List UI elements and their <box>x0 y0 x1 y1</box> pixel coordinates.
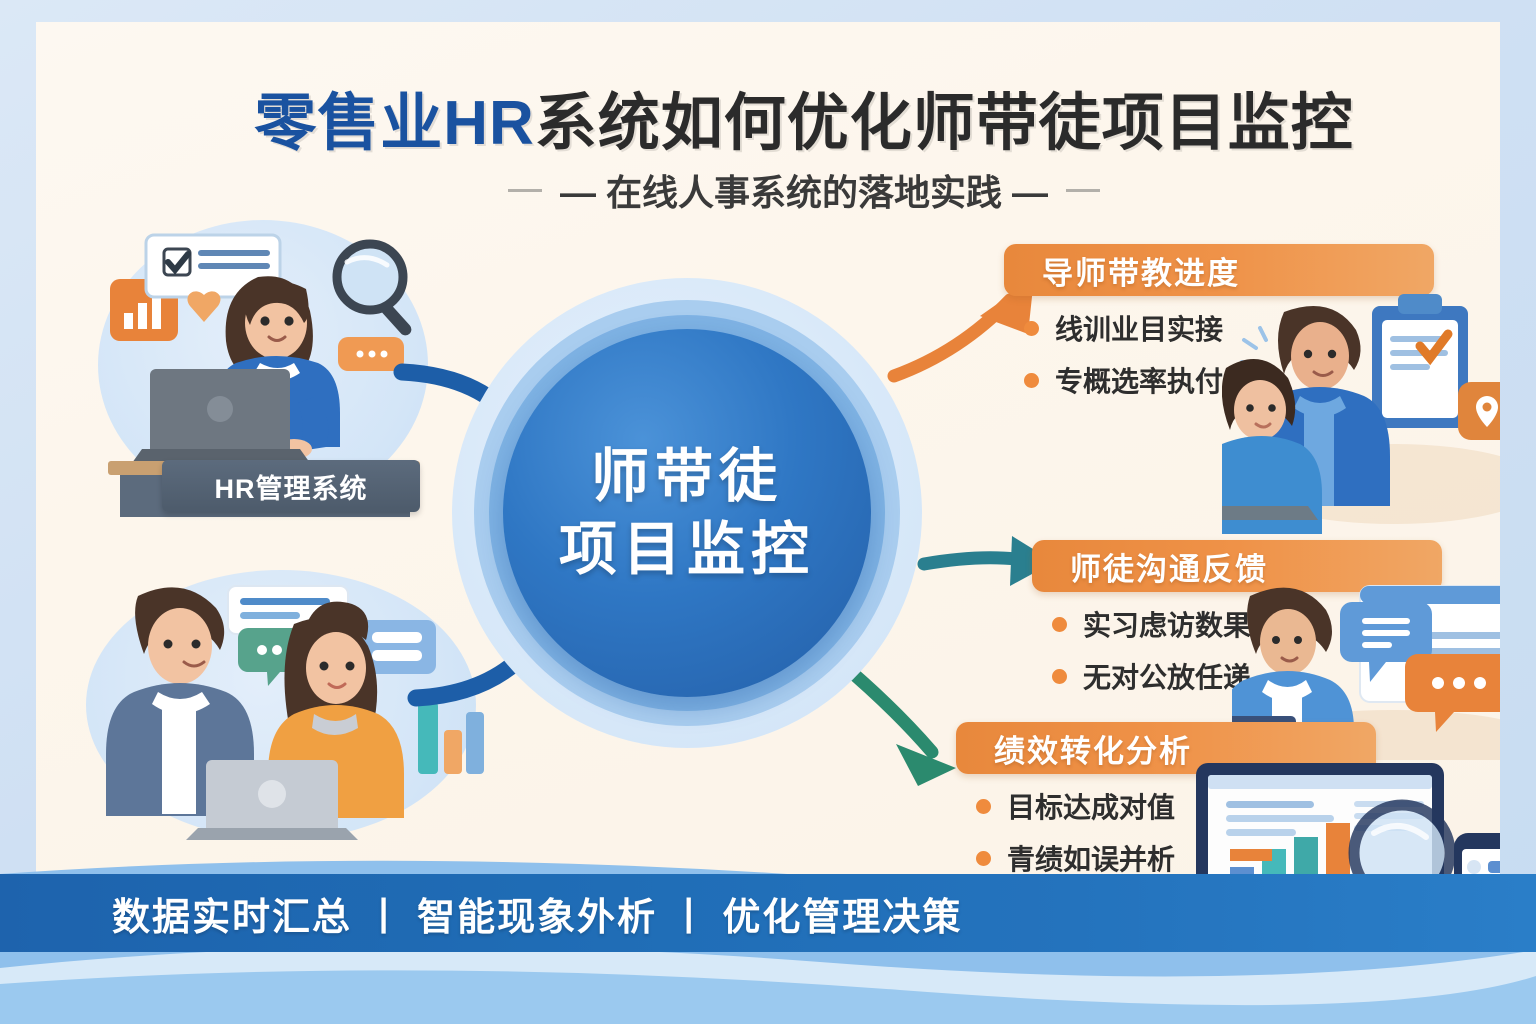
clipboard-icon <box>1372 294 1468 428</box>
hub-line-1: 师带徒 <box>591 440 783 513</box>
panel-1-bullet-2: 专概选率执付 <box>1055 360 1223 400</box>
footer-item-1: 数据实时汇总 <box>112 897 352 939</box>
footer-item-3: 优化管理决策 <box>722 897 962 939</box>
hub-line-2: 项目监控 <box>559 513 815 586</box>
panel-3-bullet-1: 目标达成对值 <box>1007 786 1175 826</box>
subtitle-rule-left-outer <box>508 189 542 192</box>
footer-item-2: 智能现象外析 <box>417 897 657 939</box>
page-title-rest: 系统如何优化师带徒项目监控 <box>535 89 1354 158</box>
spark-icon <box>1242 328 1266 364</box>
bullet-dot-icon <box>1024 321 1039 336</box>
bullet-dot-icon <box>1052 669 1067 684</box>
footer-bar: 数据实时汇总 丨 智能现象外析 丨 优化管理决策 <box>0 874 1536 952</box>
page-title: 零售业HR系统如何优化师带徒项目监控 <box>36 72 1500 162</box>
panel-1-bullet-1: 线训业目实接 <box>1055 308 1223 348</box>
laptop-icon <box>132 369 310 463</box>
page-subtitle: — 在线人事系统的落地实践 — <box>560 164 1048 216</box>
page-title-accent: 零售业HR <box>254 89 535 158</box>
panel-1-title: 导师带教进度 <box>1042 248 1240 293</box>
location-badge-icon <box>1458 382 1500 440</box>
infographic-canvas: 零售业HR系统如何优化师带徒项目监控 — 在线人事系统的落地实践 — <box>0 0 1536 1024</box>
subtitle-rule-right-outer <box>1066 189 1100 192</box>
footer-sep-2: 丨 <box>670 897 710 939</box>
magnifier-icon <box>337 244 414 338</box>
panel-2-bullet-2: 无对公放任递 <box>1083 656 1251 696</box>
hub-circle: 师带徒 项目监控 <box>503 329 871 697</box>
laptop-icon-2 <box>186 760 358 840</box>
laptop-hint <box>1222 506 1318 520</box>
hr-system-label: HR管理系统 <box>162 460 420 512</box>
subtitle-block: — 在线人事系统的落地实践 — <box>36 164 1500 216</box>
bullet-dot-icon <box>1024 373 1039 388</box>
footer-text: 数据实时汇总 丨 智能现象外析 丨 优化管理决策 <box>112 886 962 941</box>
panel-3-title: 绩效转化分析 <box>994 726 1192 771</box>
hr-system-label-text: HR管理系统 <box>215 467 368 506</box>
bullet-dot-icon <box>976 799 991 814</box>
footer-sep-1: 丨 <box>365 897 405 939</box>
mini-bar-chart-icon <box>418 702 484 774</box>
panel-2-bullet-1: 实习虑访数果 <box>1083 604 1251 644</box>
bullet-dot-icon <box>1052 617 1067 632</box>
heart-icon <box>188 291 221 322</box>
panel-1-illustration <box>1222 284 1500 534</box>
footer-band: 数据实时汇总 丨 智能现象外析 丨 优化管理决策 <box>0 850 1536 1024</box>
title-block: 零售业HR系统如何优化师带徒项目监控 <box>36 72 1500 162</box>
